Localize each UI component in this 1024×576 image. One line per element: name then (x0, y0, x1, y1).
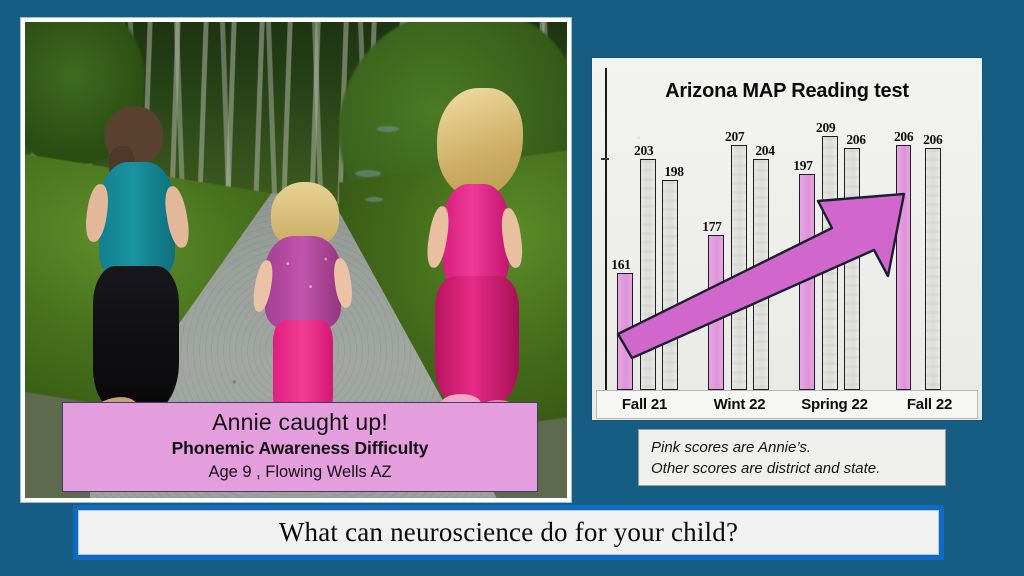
chart-group-wint-22: 177 207 204 (703, 98, 794, 390)
chart-group-fall-22: 206 206 (885, 98, 976, 390)
chart-x-label-4: Fall 22 (882, 396, 977, 413)
photo-puddle-3 (377, 126, 399, 132)
chart-bar-district-4: 206 (925, 148, 940, 390)
chart-image: Arizona MAP Reading test 161 203 198 177 (592, 58, 982, 420)
chart-bar-value: 209 (816, 120, 835, 136)
chart-bar-value: 177 (702, 219, 721, 235)
chart-bar-state-3: 206 (844, 148, 859, 390)
chart-x-label-3: Spring 22 (787, 396, 882, 413)
photo-caption-box: Annie caught up! Phonemic Awareness Diff… (62, 402, 538, 492)
chart-bar-value: 161 (611, 257, 630, 273)
chart-group-fall-21: 161 203 198 (612, 98, 703, 390)
chart-bar-district-1: 203 (640, 159, 655, 390)
chart-x-label-2: Wint 22 (692, 396, 787, 413)
chart-bar-state-2: 204 (753, 159, 768, 390)
chart-plot-area: 161 203 198 177 207 204 (612, 98, 976, 390)
photo-girl-pink (425, 88, 541, 438)
chart-y-tick (601, 158, 609, 160)
chart-bar-value: 206 (923, 132, 942, 148)
chart-y-axis (605, 68, 607, 390)
photo-puddle-2 (365, 197, 383, 202)
chart-bar-value: 207 (725, 129, 744, 145)
chart-x-axis-labels: Fall 21 Wint 22 Spring 22 Fall 22 (596, 390, 978, 419)
legend-line-1: Pink scores are Annie’s. (651, 437, 935, 458)
chart-bar-district-2: 207 (731, 145, 746, 390)
photo-girl-teal (83, 106, 203, 436)
photo-girl-pink-tank (443, 184, 509, 286)
chart-group-spring-22: 197 209 206 (794, 98, 885, 390)
chart-bar-annie-1: 161 (617, 273, 632, 390)
photo-girl-teal-shirt (99, 162, 175, 278)
photo-girl-small-top (265, 236, 341, 328)
chart-bar-value: 203 (634, 143, 653, 159)
chart-bar-value: 206 (894, 129, 913, 145)
chart-legend-note: Pink scores are Annie’s. Other scores ar… (638, 429, 946, 486)
slide-canvas: Annie caught up! Phonemic Awareness Diff… (0, 0, 1024, 576)
chart-bar-annie-2: 177 (708, 235, 723, 390)
legend-line-2: Other scores are district and state. (651, 458, 935, 479)
photo-girl-teal-pants (93, 266, 179, 412)
caption-headline: Annie caught up! (63, 403, 537, 437)
chart-x-label-1: Fall 21 (597, 396, 692, 413)
chart-bar-value: 197 (793, 158, 812, 174)
chart-bar-value: 198 (664, 164, 683, 180)
chart-bar-district-3: 209 (822, 136, 837, 390)
chart-bar-annie-3: 197 (799, 174, 814, 390)
chart-bar-value: 206 (846, 132, 865, 148)
caption-subhead: Phonemic Awareness Difficulty (63, 437, 537, 460)
photo-puddle-1 (355, 170, 381, 177)
chart-bar-state-1: 198 (662, 180, 677, 390)
photo-girl-pink-hair (437, 88, 523, 198)
chart-bar-value: 204 (755, 143, 774, 159)
caption-detail: Age 9 , Flowing Wells AZ (63, 460, 537, 484)
chart-bar-annie-4: 206 (896, 145, 911, 390)
bottom-banner-text: What can neuroscience do for your child? (78, 510, 939, 555)
photo-girl-pink-pants (435, 276, 519, 406)
bottom-banner: What can neuroscience do for your child? (73, 505, 944, 560)
